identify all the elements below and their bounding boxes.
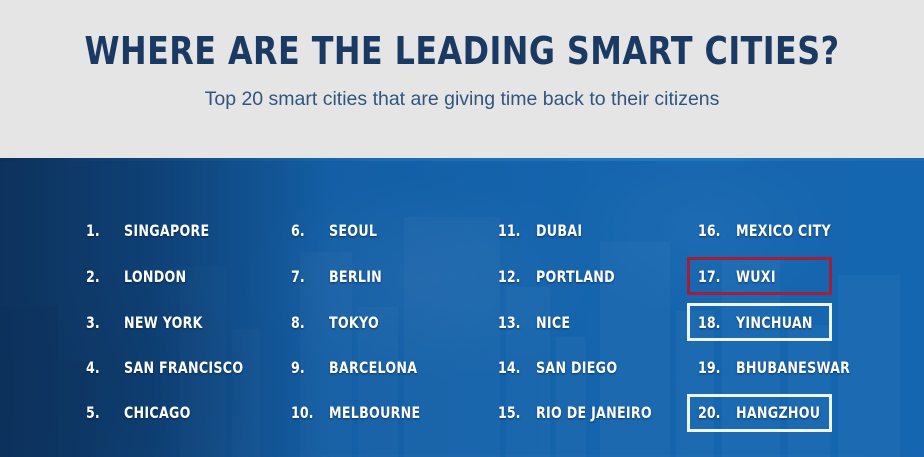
rank-number: 12. xyxy=(498,267,531,286)
city-name: TOKYO xyxy=(329,313,379,332)
ranking-column-3: 11. DUBAI 12. PORTLAND 13. NICE 14. SAN … xyxy=(498,158,688,457)
ranking-list: 1. SINGAPORE 2. LONDON 3. NEW YORK 4. SA… xyxy=(0,158,924,457)
ranking-column-1: 1. SINGAPORE 2. LONDON 3. NEW YORK 4. SA… xyxy=(86,158,286,457)
city-name: SAN DIEGO xyxy=(536,358,617,377)
list-item[interactable]: 19. BHUBANESWAR xyxy=(698,352,866,383)
page-subtitle: Top 20 smart cities that are giving time… xyxy=(0,73,924,111)
city-name: NEW YORK xyxy=(124,313,203,332)
city-name: MELBOURNE xyxy=(329,403,420,422)
rank-number: 1. xyxy=(86,221,119,240)
city-name: DUBAI xyxy=(536,221,582,240)
list-item-highlighted[interactable]: 17. WUXI xyxy=(698,261,781,292)
rank-number: 8. xyxy=(291,313,324,332)
rank-number: 3. xyxy=(86,313,119,332)
header-band: WHERE ARE THE LEADING SMART CITIES? Top … xyxy=(0,0,924,158)
city-name: BERLIN xyxy=(329,267,382,286)
city-name: WUXI xyxy=(736,267,776,286)
rank-number: 2. xyxy=(86,267,119,286)
page-title: WHERE ARE THE LEADING SMART CITIES? xyxy=(32,0,891,73)
rank-number: 13. xyxy=(498,313,531,332)
list-item-highlighted[interactable]: 18. YINCHUAN xyxy=(698,307,823,338)
rank-number: 9. xyxy=(291,358,324,377)
ranking-column-4: 16. MEXICO CITY 17. WUXI 18. YINCHUAN 19… xyxy=(698,158,898,457)
rank-number: 15. xyxy=(498,403,531,422)
list-item[interactable]: 6. SEOUL xyxy=(291,215,384,246)
list-item[interactable]: 1. SINGAPORE xyxy=(86,215,221,246)
city-name: NICE xyxy=(536,313,570,332)
rank-number: 18. xyxy=(698,313,731,332)
city-name: CHICAGO xyxy=(124,403,191,422)
list-item[interactable]: 14. SAN DIEGO xyxy=(498,352,628,383)
rank-number: 16. xyxy=(698,221,731,240)
city-name: BARCELONA xyxy=(329,358,417,377)
rank-number: 20. xyxy=(698,403,731,422)
list-item[interactable]: 9. BARCELONA xyxy=(291,352,429,383)
city-name: RIO DE JANEIRO xyxy=(536,403,652,422)
rank-number: 5. xyxy=(86,403,119,422)
rank-number: 11. xyxy=(498,221,531,240)
city-name: SEOUL xyxy=(329,221,377,240)
city-name: MEXICO CITY xyxy=(736,221,831,240)
city-name: SAN FRANCISCO xyxy=(124,358,243,377)
list-item-highlighted[interactable]: 20. HANGZHOU xyxy=(698,397,832,428)
header-text-block: WHERE ARE THE LEADING SMART CITIES? Top … xyxy=(0,0,924,111)
list-item[interactable]: 11. DUBAI xyxy=(498,215,589,246)
city-name: PORTLAND xyxy=(536,267,615,286)
list-item[interactable]: 7. BERLIN xyxy=(291,261,389,292)
city-name: HANGZHOU xyxy=(736,403,820,422)
list-item[interactable]: 15. RIO DE JANEIRO xyxy=(498,397,668,428)
rank-number: 6. xyxy=(291,221,324,240)
infographic-screen: WHERE ARE THE LEADING SMART CITIES? Top … xyxy=(0,0,924,457)
city-name: LONDON xyxy=(124,267,186,286)
list-item[interactable]: 8. TOKYO xyxy=(291,307,386,338)
rank-number: 10. xyxy=(291,403,324,422)
list-item[interactable]: 3. NEW YORK xyxy=(86,307,214,338)
ranking-column-2: 6. SEOUL 7. BERLIN 8. TOKYO 9. BARCELONA… xyxy=(291,158,491,457)
rank-number: 14. xyxy=(498,358,531,377)
city-name: BHUBANESWAR xyxy=(736,358,850,377)
list-item[interactable]: 13. NICE xyxy=(498,307,575,338)
list-item[interactable]: 4. SAN FRANCISCO xyxy=(86,352,260,383)
rank-number: 4. xyxy=(86,358,119,377)
list-item[interactable]: 2. LONDON xyxy=(86,261,195,292)
rank-number: 7. xyxy=(291,267,324,286)
list-item[interactable]: 5. CHICAGO xyxy=(86,397,200,428)
rank-number: 17. xyxy=(698,267,731,286)
list-item[interactable]: 16. MEXICO CITY xyxy=(698,215,844,246)
list-item[interactable]: 12. PORTLAND xyxy=(498,261,626,292)
city-name: SINGAPORE xyxy=(124,221,209,240)
city-name: YINCHUAN xyxy=(736,313,813,332)
city-list-panel: 1. SINGAPORE 2. LONDON 3. NEW YORK 4. SA… xyxy=(0,158,924,457)
list-item[interactable]: 10. MELBOURNE xyxy=(291,397,433,428)
rank-number: 19. xyxy=(698,358,731,377)
